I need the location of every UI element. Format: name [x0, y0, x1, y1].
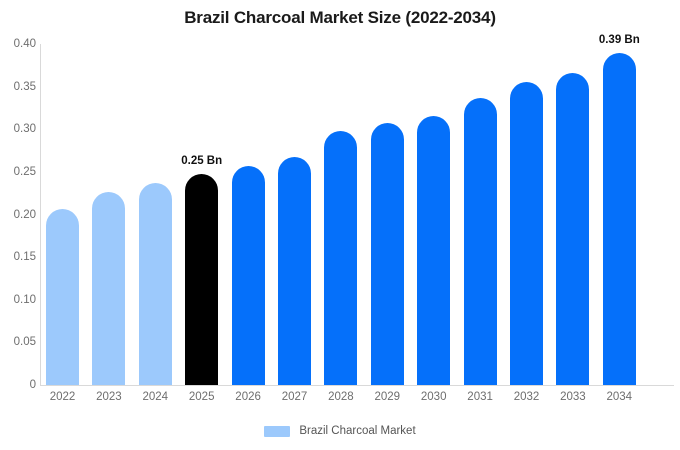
x-axis-tick-2026: 2026 — [223, 391, 273, 403]
bar-value-label-2025: 0.25 Bn — [181, 155, 222, 167]
bar-group — [232, 166, 265, 385]
bar-group — [556, 73, 589, 385]
bar-group — [139, 183, 172, 385]
x-axis-tick-2028: 2028 — [316, 391, 366, 403]
x-axis-tick-2030: 2030 — [409, 391, 459, 403]
bar-2023[interactable] — [92, 192, 125, 385]
bar-2027[interactable] — [278, 157, 311, 385]
legend-label-brazil-charcoal-market: Brazil Charcoal Market — [299, 425, 415, 437]
bar-2024[interactable] — [139, 183, 172, 385]
x-axis-tick-2029: 2029 — [362, 391, 412, 403]
y-axis-tick-labels: 00.050.100.150.200.250.300.350.40 — [0, 0, 36, 450]
x-axis-tick-2023: 2023 — [84, 391, 134, 403]
bar-group — [464, 98, 497, 385]
x-axis-tick-2031: 2031 — [455, 391, 505, 403]
bar-2025[interactable] — [185, 174, 218, 385]
x-axis-tick-2034: 2034 — [594, 391, 644, 403]
bar-2031[interactable] — [464, 98, 497, 385]
bar-2030[interactable] — [417, 116, 450, 385]
y-axis-tick-2: 0.10 — [2, 294, 36, 306]
bar-group — [371, 123, 404, 385]
x-axis-tick-2022: 2022 — [38, 391, 88, 403]
bar-2022[interactable] — [46, 209, 79, 385]
bar-2032[interactable] — [510, 82, 543, 385]
bar-group — [92, 192, 125, 385]
x-axis-tick-2032: 2032 — [502, 391, 552, 403]
bar-2028[interactable] — [324, 131, 357, 385]
bar-group: 0.39 Bn — [603, 53, 636, 385]
y-axis-tick-5: 0.25 — [2, 166, 36, 178]
y-axis-tick-3: 0.15 — [2, 251, 36, 263]
bar-group: 0.25 Bn — [185, 174, 218, 385]
y-axis-tick-8: 0.40 — [2, 38, 36, 50]
bar-2034[interactable] — [603, 53, 636, 385]
bar-2033[interactable] — [556, 73, 589, 385]
y-axis-tick-4: 0.20 — [2, 209, 36, 221]
bar-group — [324, 131, 357, 385]
chart-title: Brazil Charcoal Market Size (2022-2034) — [0, 8, 680, 28]
bar-group — [417, 116, 450, 385]
chart-legend: Brazil Charcoal Market — [0, 425, 680, 437]
legend-swatch-brazil-charcoal-market — [264, 426, 290, 437]
bar-group — [278, 157, 311, 385]
y-axis-tick-1: 0.05 — [2, 336, 36, 348]
bar-group — [510, 82, 543, 385]
x-axis-tick-2025: 2025 — [177, 391, 227, 403]
bar-2026[interactable] — [232, 166, 265, 385]
y-axis-tick-7: 0.35 — [2, 81, 36, 93]
bar-2029[interactable] — [371, 123, 404, 385]
bar-group — [46, 209, 79, 385]
y-axis-tick-0: 0 — [2, 379, 36, 391]
x-axis-tick-2033: 2033 — [548, 391, 598, 403]
x-axis-tick-2024: 2024 — [130, 391, 180, 403]
bar-chart: Brazil Charcoal Market Size (2022-2034) … — [0, 0, 680, 450]
y-axis-tick-6: 0.30 — [2, 123, 36, 135]
x-axis-tick-2027: 2027 — [270, 391, 320, 403]
bar-value-label-2034: 0.39 Bn — [599, 34, 640, 46]
